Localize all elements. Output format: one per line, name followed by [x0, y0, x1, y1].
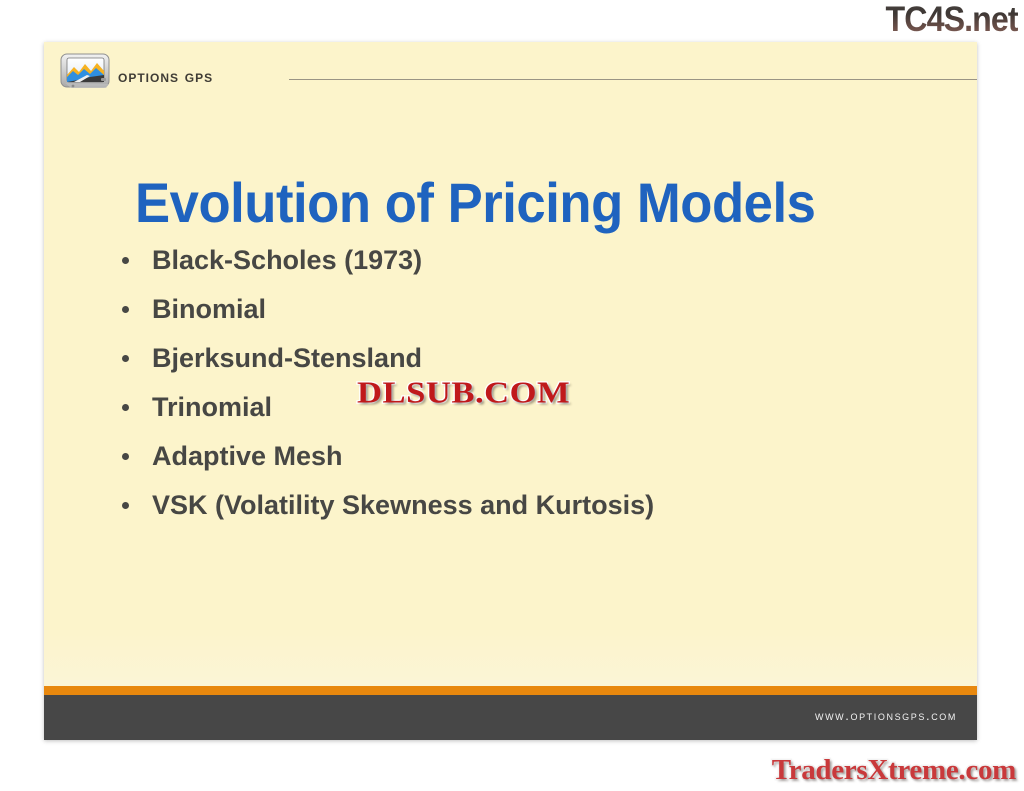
- bullet-dot-icon: [122, 257, 129, 264]
- list-item-label: Black-Scholes (1973): [152, 245, 422, 275]
- bullet-dot-icon: [122, 453, 129, 460]
- dlsub-watermark: DLSUB.COM: [357, 375, 570, 410]
- list-item-label: Trinomial: [152, 392, 272, 422]
- list-item-label: Adaptive Mesh: [152, 441, 343, 471]
- bullet-dot-icon: [122, 404, 129, 411]
- brand-name: Options GPS: [118, 67, 213, 87]
- list-item: Adaptive Mesh: [114, 432, 974, 481]
- list-item-label: VSK (Volatility Skewness and Kurtosis): [152, 490, 654, 520]
- bullet-dot-icon: [122, 306, 129, 313]
- header-divider: [289, 79, 977, 80]
- tc4s-watermark: TC4S.net: [886, 2, 1018, 39]
- list-item: Black-Scholes (1973): [114, 236, 974, 285]
- list-item: Binomial: [114, 285, 974, 334]
- footer-url: www.OptionsGPS.com: [815, 708, 957, 723]
- list-item-label: Binomial: [152, 294, 266, 324]
- bullet-dot-icon: [122, 502, 129, 509]
- list-item: VSK (Volatility Skewness and Kurtosis): [114, 481, 974, 530]
- slide-footer: www.OptionsGPS.com: [44, 695, 977, 740]
- list-item-label: Bjerksund-Stensland: [152, 343, 422, 373]
- tradersxtreme-watermark: TradersXtreme.com: [772, 754, 1016, 787]
- presentation-slide: Options GPS Evolution of Pricing Models …: [44, 42, 977, 740]
- accent-stripe: [44, 686, 977, 695]
- gps-device-icon: [60, 53, 112, 91]
- slide-header: Options GPS: [44, 42, 977, 100]
- bullet-dot-icon: [122, 355, 129, 362]
- page-title: Evolution of Pricing Models: [135, 170, 815, 235]
